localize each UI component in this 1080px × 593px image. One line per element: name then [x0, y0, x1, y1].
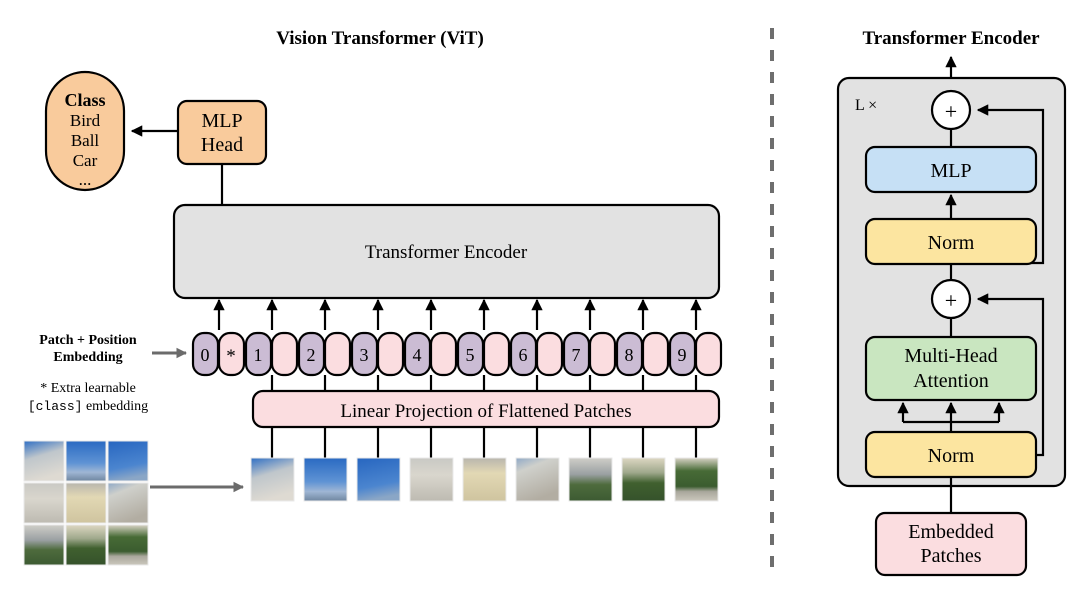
token-patch-capsule-7	[590, 333, 615, 375]
class-item-0: Bird	[70, 111, 101, 130]
token-index-label-7: 7	[572, 345, 581, 365]
embedded-patches-label-line2: Patches	[920, 545, 981, 567]
diagram-canvas: Vision Transformer (ViT) Transformer Enc…	[0, 0, 1080, 593]
norm-top-label: Norm	[928, 232, 975, 254]
token-9: 9	[670, 333, 721, 375]
token-5: 5	[458, 333, 509, 375]
token-index-label-6: 6	[519, 345, 528, 365]
token-8: 8	[617, 333, 668, 375]
token-patch-capsule-5	[484, 333, 509, 375]
class-box-ellipsis: ...	[79, 170, 92, 189]
source-patch-r2-c2	[108, 525, 148, 565]
token-index-label-2: 2	[307, 345, 316, 365]
flattened-patch-9	[675, 458, 718, 501]
linear-projection-label: Linear Projection of Flattened Patches	[340, 401, 631, 422]
encoder-repeat-label: L ×	[855, 97, 877, 114]
extra-learnable-note-line1: * Extra learnable	[40, 381, 136, 396]
flattened-patch-strip	[251, 458, 718, 501]
token-index-label-3: 3	[360, 345, 369, 365]
token-index-label-8: 8	[625, 345, 634, 365]
transformer-encoder-label: Transformer Encoder	[365, 242, 528, 263]
left-panel-title: Vision Transformer (ViT)	[276, 28, 484, 49]
patch-position-embedding-tokens: 0 * 1 2 3 4 5	[193, 333, 721, 375]
source-patch-r2-c1	[66, 525, 106, 565]
extra-learnable-note-line2: [class] embedding	[28, 399, 148, 414]
token-0: 0 *	[193, 333, 244, 375]
token-patch-capsule-9	[696, 333, 721, 375]
token-index-label-1: 1	[254, 345, 263, 365]
class-box-heading: Class	[64, 90, 105, 110]
token-patch-capsule-4	[431, 333, 456, 375]
source-patch-r0-c1	[66, 441, 106, 481]
token-patch-capsule-2	[325, 333, 350, 375]
right-panel-title: Transformer Encoder	[862, 28, 1040, 49]
token-patch-capsule-8	[643, 333, 668, 375]
token-6: 6	[511, 333, 562, 375]
norm-bottom-label: Norm	[928, 445, 975, 467]
token-index-label-4: 4	[413, 345, 422, 365]
flattened-patch-6	[516, 458, 559, 501]
token-2: 2	[299, 333, 350, 375]
token-7: 7	[564, 333, 615, 375]
token-index-label-0: 0	[201, 345, 210, 365]
source-patch-r0-c2	[108, 441, 148, 481]
token-star-symbol-0: *	[226, 346, 236, 367]
source-patch-r2-c0	[24, 525, 64, 565]
token-1: 1	[246, 333, 297, 375]
patch-to-projection-connectors	[272, 427, 696, 458]
source-patch-r0-c0	[24, 441, 64, 481]
class-token-note-suffix: embedding	[82, 399, 148, 414]
token-patch-capsule-3	[378, 333, 403, 375]
flattened-patch-5	[463, 458, 506, 501]
flattened-patch-1	[251, 458, 294, 501]
projection-to-token-connectors	[272, 375, 696, 391]
residual-add-bottom-symbol: +	[945, 288, 957, 313]
token-4: 4	[405, 333, 456, 375]
class-item-1: Ball	[71, 131, 100, 150]
embedded-patches-label-line1: Embedded	[908, 521, 994, 543]
source-patch-r1-c2	[108, 483, 148, 523]
source-image-grid	[24, 441, 148, 565]
attention-label-line1: Multi-Head	[904, 345, 997, 367]
mlp-head-label-line1: MLP	[201, 110, 242, 132]
token-patch-capsule-1	[272, 333, 297, 375]
flattened-patch-2	[304, 458, 347, 501]
flattened-patch-3	[357, 458, 400, 501]
token-3: 3	[352, 333, 403, 375]
attention-label-line2: Attention	[913, 370, 989, 392]
flattened-patch-7	[569, 458, 612, 501]
class-item-2: Car	[73, 151, 98, 170]
embedding-annotation-line1: Patch + Position	[39, 333, 137, 348]
source-patch-r1-c1	[66, 483, 106, 523]
flattened-patch-8	[622, 458, 665, 501]
class-token-mono-label: [class]	[28, 399, 83, 414]
embedding-annotation-line2: Embedding	[53, 350, 122, 365]
mlp-head-label-line2: Head	[201, 134, 243, 156]
token-index-label-9: 9	[678, 345, 687, 365]
token-patch-capsule-6	[537, 333, 562, 375]
token-index-label-5: 5	[466, 345, 475, 365]
source-patch-r1-c0	[24, 483, 64, 523]
residual-add-top-symbol: +	[945, 99, 957, 124]
token-to-encoder-arrows	[219, 300, 696, 330]
mlp-label: MLP	[930, 160, 971, 182]
flattened-patch-4	[410, 458, 453, 501]
